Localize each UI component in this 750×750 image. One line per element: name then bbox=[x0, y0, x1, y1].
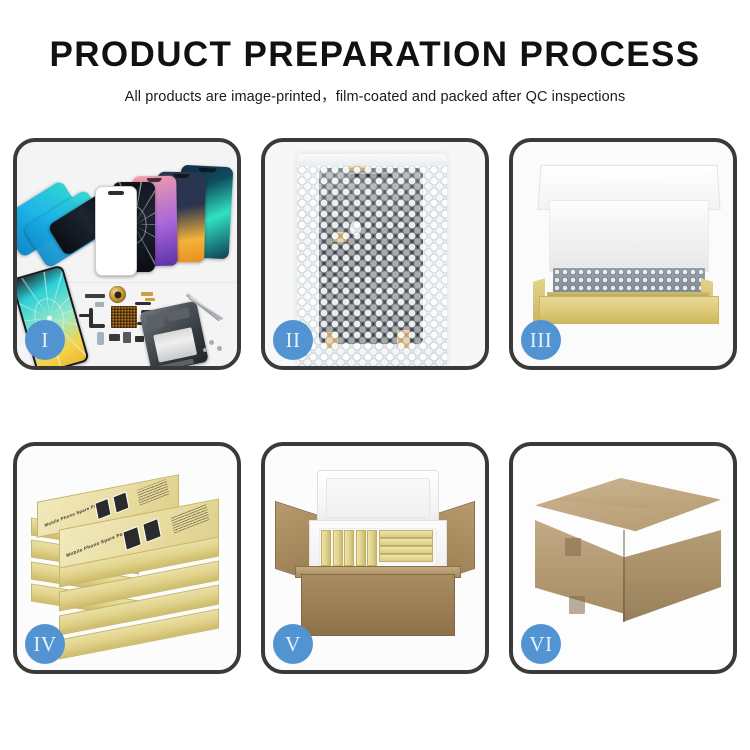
step-badge-1: I bbox=[25, 320, 65, 360]
carton-tape-patch bbox=[565, 538, 581, 556]
screw-icon bbox=[203, 348, 207, 352]
retail-box bbox=[356, 530, 366, 566]
process-step-panel-6: VI bbox=[509, 442, 737, 674]
retail-box bbox=[379, 538, 433, 546]
spare-part bbox=[123, 332, 131, 343]
page-subtitle: All products are image-printed，film-coat… bbox=[0, 85, 750, 106]
retail-box bbox=[379, 546, 433, 554]
spare-part bbox=[109, 334, 120, 341]
spare-part bbox=[95, 302, 104, 307]
spare-part bbox=[85, 294, 105, 298]
box-artwork-swatch bbox=[122, 526, 142, 551]
step-badge-3: III bbox=[521, 320, 561, 360]
retail-box bbox=[367, 530, 377, 566]
process-step-panel-2: II bbox=[261, 138, 489, 370]
box-stack: Mobile Phone Spare Parts Mobile Phone Sp… bbox=[31, 474, 231, 654]
product-preparation-page: PRODUCT PREPARATION PROCESS All products… bbox=[0, 0, 750, 750]
process-step-panel-4: Mobile Phone Spare Parts Mobile Phone Sp… bbox=[13, 442, 241, 674]
page-title: PRODUCT PREPARATION PROCESS bbox=[0, 36, 750, 75]
carton-seam bbox=[623, 530, 625, 622]
box-artwork-lines bbox=[171, 503, 210, 534]
retail-box bbox=[333, 530, 343, 566]
chip-array-icon bbox=[111, 306, 137, 328]
process-step-grid: I bbox=[13, 138, 737, 674]
step-badge-2: II bbox=[273, 320, 313, 360]
step-badge-6: VI bbox=[521, 624, 561, 664]
spare-part bbox=[79, 314, 91, 317]
spare-part bbox=[135, 302, 151, 305]
spare-part bbox=[145, 298, 155, 301]
retail-box bbox=[379, 554, 433, 562]
packed-retail-boxes bbox=[321, 530, 433, 566]
foam-sheet bbox=[549, 200, 709, 272]
process-step-panel-5: V bbox=[261, 442, 489, 674]
retail-box bbox=[321, 530, 331, 566]
battery-icon bbox=[153, 327, 196, 363]
spare-part bbox=[141, 292, 153, 296]
bag-seal bbox=[297, 154, 447, 166]
retail-box bbox=[379, 530, 433, 538]
box-artwork-swatch bbox=[94, 498, 111, 520]
spare-part bbox=[89, 324, 105, 328]
phone-front-glass-white bbox=[95, 186, 137, 276]
page-header: PRODUCT PREPARATION PROCESS All products… bbox=[0, 36, 750, 106]
screw-icon bbox=[217, 346, 222, 351]
box-front-panel bbox=[539, 296, 719, 324]
phone-notch-icon bbox=[174, 174, 190, 178]
box-artwork-lines bbox=[137, 479, 170, 506]
spare-part bbox=[97, 332, 104, 345]
spare-part bbox=[135, 336, 144, 342]
retail-box bbox=[344, 530, 354, 566]
box-artwork-swatch bbox=[142, 518, 162, 543]
step-badge-4: IV bbox=[25, 624, 65, 664]
carton-body bbox=[301, 574, 455, 636]
step-badge-5: V bbox=[273, 624, 313, 664]
process-step-panel-3: III bbox=[509, 138, 737, 370]
bubble-wrap-bag bbox=[297, 154, 447, 366]
foam-lid-inset bbox=[326, 478, 430, 518]
camera-module-icon bbox=[109, 286, 126, 303]
process-step-panel-1: I bbox=[13, 138, 241, 370]
bubble-texture bbox=[297, 154, 447, 366]
foam-cooler-lid bbox=[317, 470, 439, 526]
carton-tape-patch bbox=[569, 596, 585, 614]
box-artwork-swatch bbox=[112, 491, 129, 513]
screw-icon bbox=[209, 340, 214, 345]
